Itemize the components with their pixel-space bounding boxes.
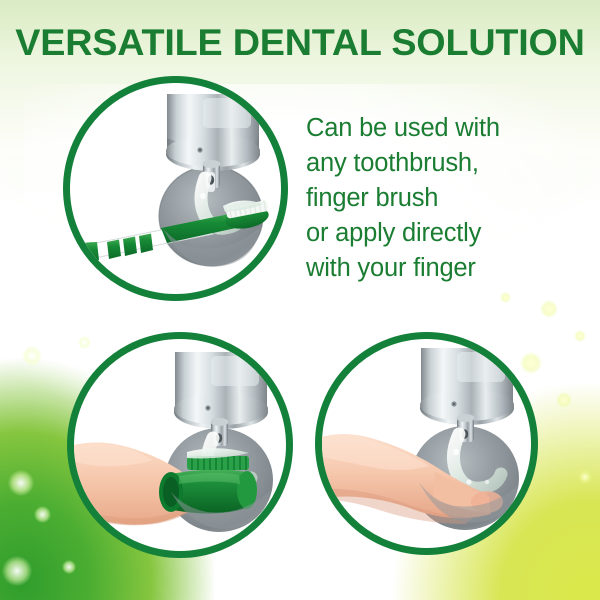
infographic-canvas: VERSATILE DENTAL SOLUTION: [0, 0, 600, 600]
panel-toothbrush: [63, 76, 288, 301]
photo-finger-brush: [67, 332, 293, 558]
copy-line-5: with your finger: [306, 251, 566, 286]
panel-bare-finger: [315, 332, 538, 555]
panel-finger-brush: [67, 332, 293, 558]
body-copy: Can be used with any toothbrush, finger …: [306, 111, 566, 286]
photo-toothbrush: [63, 76, 288, 301]
page-title: VERSATILE DENTAL SOLUTION: [0, 22, 600, 64]
copy-line-4: or apply directly: [306, 216, 566, 251]
copy-line-3: finger brush: [306, 181, 566, 216]
bare-finger-illustration: [315, 332, 538, 555]
photo-bare-finger: [315, 332, 538, 555]
copy-line-2: any toothbrush,: [306, 146, 566, 181]
copy-line-1: Can be used with: [306, 111, 566, 146]
finger-brush-illustration: [67, 332, 293, 558]
toothbrush-illustration: [63, 76, 288, 301]
